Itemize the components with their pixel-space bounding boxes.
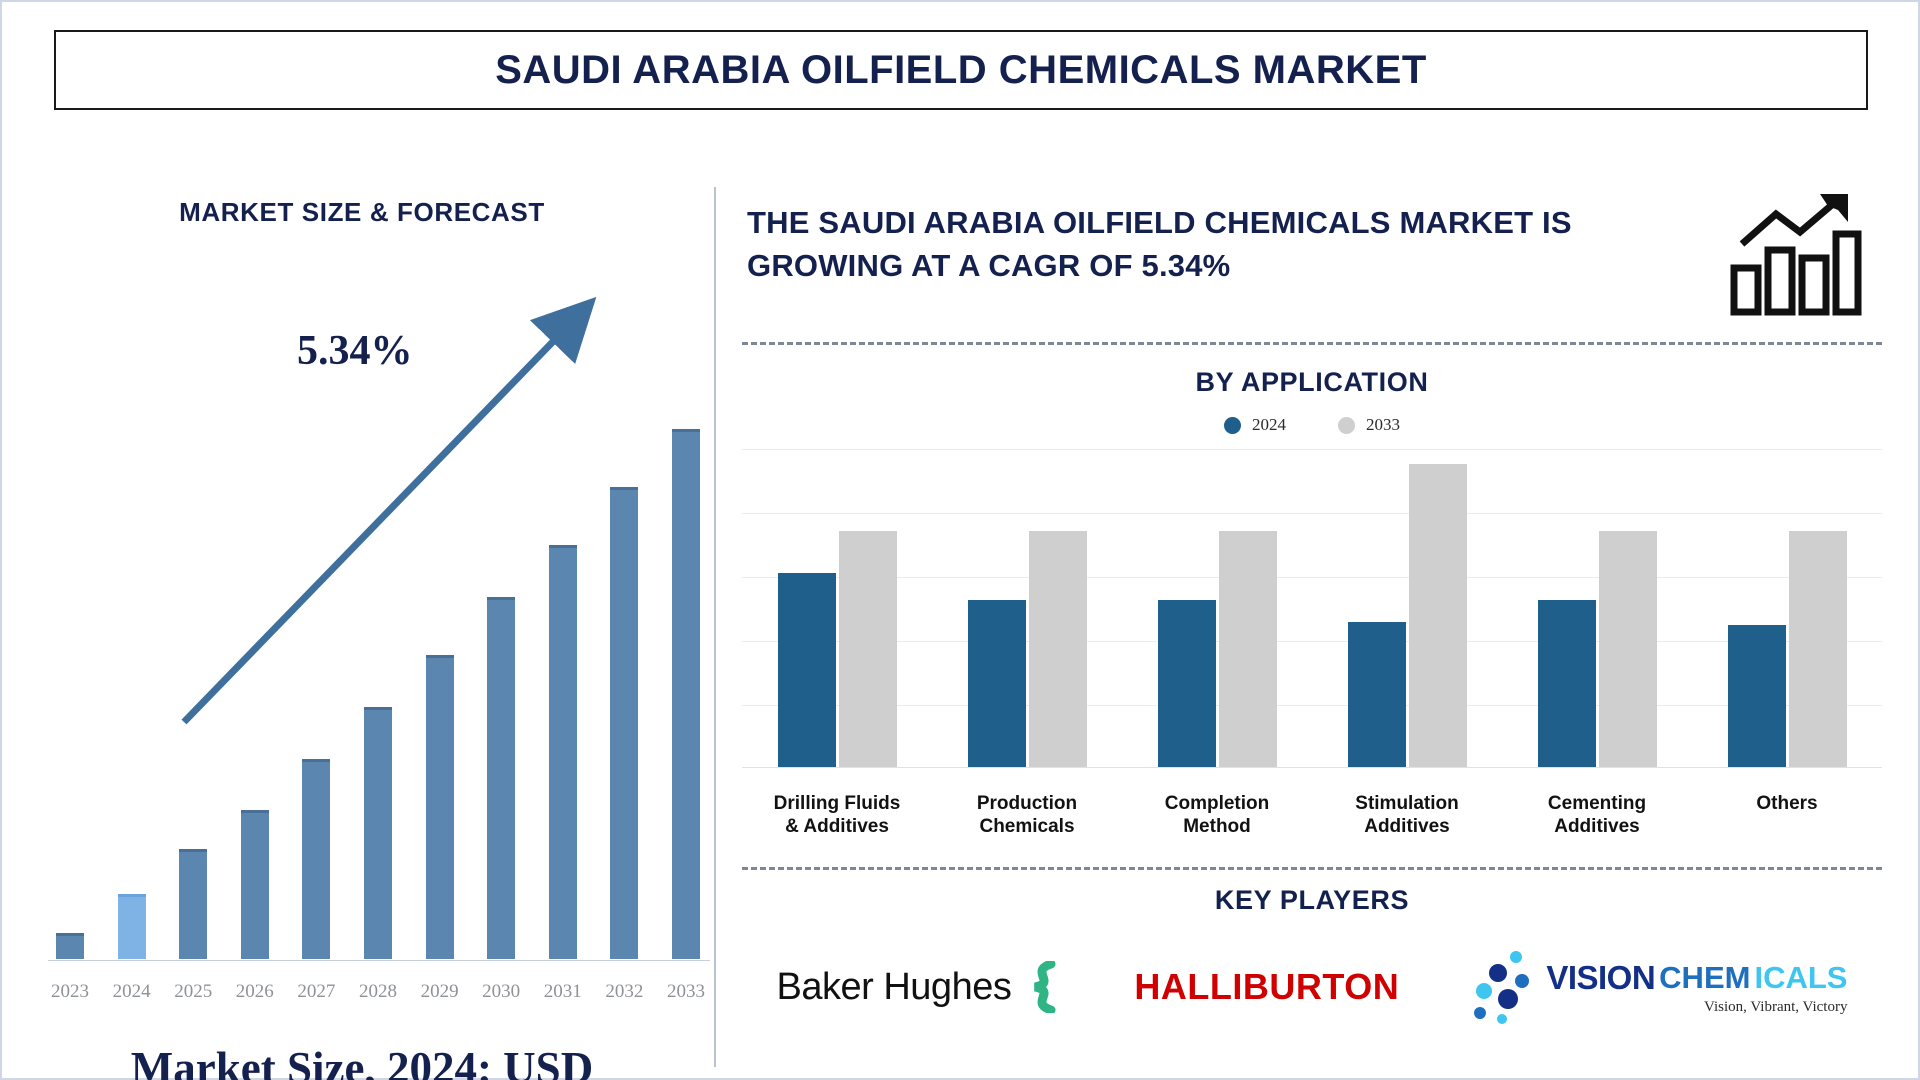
- left-bar-column: [664, 389, 708, 959]
- key-players-logos: Baker Hughes HALLIBURTON: [742, 947, 1882, 1027]
- chart-legend: 20242033: [742, 415, 1882, 435]
- legend-color-swatch: [1338, 417, 1355, 434]
- bar-2024: [778, 573, 836, 767]
- legend-color-swatch: [1224, 417, 1241, 434]
- left-bar-column: [356, 389, 400, 959]
- year-tick-label: 2028: [356, 981, 400, 1003]
- halliburton-wordmark: HALLIBURTON: [1134, 966, 1399, 1008]
- legend-item[interactable]: 2024: [1224, 415, 1286, 435]
- market-size-line-1: Market Size, 2024: USD: [131, 1043, 593, 1080]
- key-players-title: KEY PLAYERS: [742, 885, 1882, 916]
- year-tick-label: 2024: [110, 981, 154, 1003]
- year-tick-label: 2030: [479, 981, 523, 1003]
- left-bars-container: [48, 389, 708, 959]
- legend-label: 2033: [1366, 415, 1400, 435]
- baker-hughes-wordmark: Baker Hughes: [777, 966, 1012, 1009]
- left-bar: [364, 707, 392, 959]
- category-label: ProductionChemicals: [932, 793, 1122, 839]
- vision-tagline: Vision, Vibrant, Victory: [1704, 999, 1847, 1016]
- vision-chem-part1: CHEM: [1659, 960, 1750, 996]
- market-size-bar-chart: 2023202420252026202720282029203020312032…: [30, 377, 720, 1017]
- panel-divider: [714, 187, 716, 1067]
- category-axis: Drilling Fluids& AdditivesProductionChem…: [742, 793, 1882, 839]
- left-bar: [549, 545, 577, 959]
- left-bar: [118, 894, 146, 959]
- cagr-statement: THE SAUDI ARABIA OILFIELD CHEMICALS MARK…: [747, 202, 1687, 288]
- legend-item[interactable]: 2033: [1338, 415, 1400, 435]
- left-bar: [302, 759, 330, 959]
- bar-2024: [1728, 625, 1786, 767]
- page-title: SAUDI ARABIA OILFIELD CHEMICALS MARKET: [495, 48, 1427, 93]
- left-bar-column: [110, 389, 154, 959]
- left-chart-baseline: [48, 960, 710, 961]
- year-tick-label: 2033: [664, 981, 708, 1003]
- vision-wordmark: VISION: [1546, 959, 1655, 997]
- category-label: StimulationAdditives: [1312, 793, 1502, 839]
- growth-bar-arrow-icon: [1724, 192, 1864, 322]
- application-panel: THE SAUDI ARABIA OILFIELD CHEMICALS MARK…: [742, 187, 1882, 1067]
- bar-2024: [1158, 600, 1216, 767]
- grouped-bars-container: [742, 449, 1882, 767]
- left-bar-column: [541, 389, 585, 959]
- bar-2033: [1409, 464, 1467, 767]
- left-bar: [241, 810, 269, 959]
- divider-top-dashed: [742, 342, 1882, 345]
- bar-2033: [839, 531, 897, 767]
- bar-group: [1502, 449, 1692, 767]
- bar-group: [742, 449, 932, 767]
- year-tick-label: 2023: [48, 981, 92, 1003]
- category-label: Drilling Fluids& Additives: [742, 793, 932, 839]
- vision-molecule-icon: [1468, 947, 1546, 1027]
- bar-2033: [1029, 531, 1087, 767]
- year-tick-label: 2026: [233, 981, 277, 1003]
- left-bar: [487, 597, 515, 959]
- bar-group: [1122, 449, 1312, 767]
- legend-label: 2024: [1252, 415, 1286, 435]
- bh-ribbon-icon: [1021, 961, 1065, 1013]
- year-tick-label: 2027: [294, 981, 338, 1003]
- infographic-root: SAUDI ARABIA OILFIELD CHEMICALS MARKET M…: [0, 0, 1920, 1080]
- left-bar-column: [294, 389, 338, 959]
- logo-halliburton: HALLIBURTON: [1134, 966, 1399, 1008]
- market-size-forecast-panel: MARKET SIZE & FORECAST 5.34% 20232024202…: [12, 152, 712, 1057]
- by-application-bar-chart: Drilling Fluids& AdditivesProductionChem…: [742, 449, 1882, 839]
- cagr-annotation-left: 5.34%: [297, 327, 413, 375]
- year-tick-label: 2025: [171, 981, 215, 1003]
- divider-bottom-dashed: [742, 867, 1882, 870]
- left-bar-column: [479, 389, 523, 959]
- bar-group: [1312, 449, 1502, 767]
- left-year-axis: 2023202420252026202720282029203020312032…: [48, 981, 708, 1003]
- market-size-forecast-heading: MARKET SIZE & FORECAST: [12, 197, 712, 228]
- left-bar: [672, 429, 700, 959]
- bar-2024: [1538, 600, 1596, 767]
- category-label: Others: [1692, 793, 1882, 839]
- bar-2033: [1599, 531, 1657, 767]
- title-banner: SAUDI ARABIA OILFIELD CHEMICALS MARKET: [54, 30, 1868, 110]
- by-application-title: BY APPLICATION: [742, 367, 1882, 398]
- bar-2033: [1219, 531, 1277, 767]
- category-label: CompletionMethod: [1122, 793, 1312, 839]
- year-tick-label: 2032: [602, 981, 646, 1003]
- left-bar-column: [48, 389, 92, 959]
- bar-2033: [1789, 531, 1847, 767]
- left-bar: [56, 933, 84, 959]
- left-bar: [179, 849, 207, 959]
- left-bar-column: [418, 389, 462, 959]
- bar-2024: [1348, 622, 1406, 767]
- bar-2024: [968, 600, 1026, 767]
- left-bar-column: [171, 389, 215, 959]
- left-bar-column: [233, 389, 277, 959]
- logo-baker-hughes: Baker Hughes: [777, 961, 1066, 1013]
- left-bar: [426, 655, 454, 959]
- year-tick-label: 2031: [541, 981, 585, 1003]
- year-tick-label: 2029: [418, 981, 462, 1003]
- category-label: CementingAdditives: [1502, 793, 1692, 839]
- market-size-value: Market Size, 2024: USD ~966.00 Million: [12, 1042, 712, 1080]
- logo-vision-chemicals: VISION CHEMICALS Vision, Vibrant, Victor…: [1468, 947, 1847, 1027]
- right-chart-baseline: [742, 767, 1882, 768]
- bar-group: [1692, 449, 1882, 767]
- left-bar-column: [602, 389, 646, 959]
- left-bar: [610, 487, 638, 959]
- vision-chem-part2: ICALS: [1754, 960, 1847, 996]
- bar-group: [932, 449, 1122, 767]
